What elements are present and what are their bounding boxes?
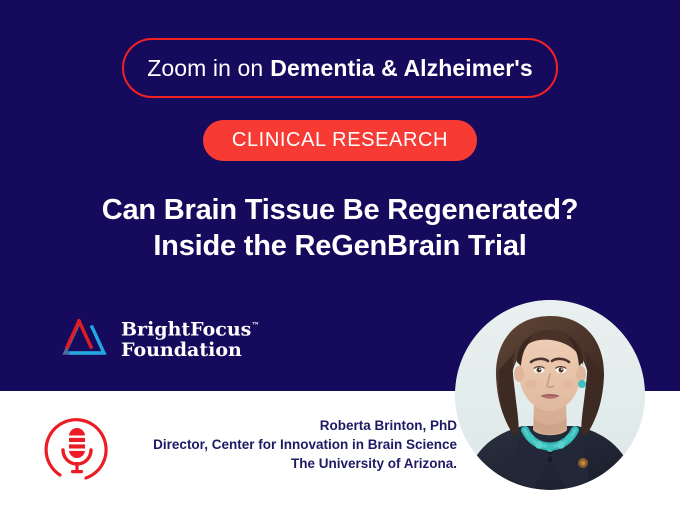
headline: Can Brain Tissue Be Regenerated? Inside … — [0, 192, 680, 264]
eyebrow-text-light: Zoom in on — [147, 55, 263, 82]
microphone-icon — [40, 410, 114, 484]
eyebrow-text-bold: Dementia & Alzheimer's — [270, 55, 532, 82]
speaker-name: Roberta Brinton, PhD — [120, 416, 457, 435]
logo-name-line-2: Foundation — [121, 339, 242, 361]
promo-graphic: Zoom in on Dementia & Alzheimer's CLINIC… — [0, 0, 680, 520]
brightfocus-wordmark: BrightFocus™ Foundation — [121, 315, 259, 361]
logo-name-line-1: BrightFocus — [121, 318, 251, 340]
speaker-credit: Roberta Brinton, PhD Director, Center fo… — [120, 416, 457, 473]
category-badge-label: CLINICAL RESEARCH — [232, 129, 448, 152]
headline-line-1: Can Brain Tissue Be Regenerated? — [102, 194, 579, 226]
brightfocus-logo: BrightFocus™ Foundation — [60, 310, 270, 366]
speaker-affiliation: The University of Arizona. — [120, 454, 457, 473]
speaker-title: Director, Center for Innovation in Brain… — [120, 435, 457, 454]
speaker-portrait — [455, 300, 645, 490]
eyebrow-pill: Zoom in on Dementia & Alzheimer's — [122, 38, 558, 98]
triangle-logo-mark-icon — [60, 313, 112, 363]
headline-line-2: Inside the ReGenBrain Trial — [0, 228, 680, 264]
category-badge: CLINICAL RESEARCH — [203, 120, 477, 161]
logo-trademark: ™ — [251, 320, 259, 330]
